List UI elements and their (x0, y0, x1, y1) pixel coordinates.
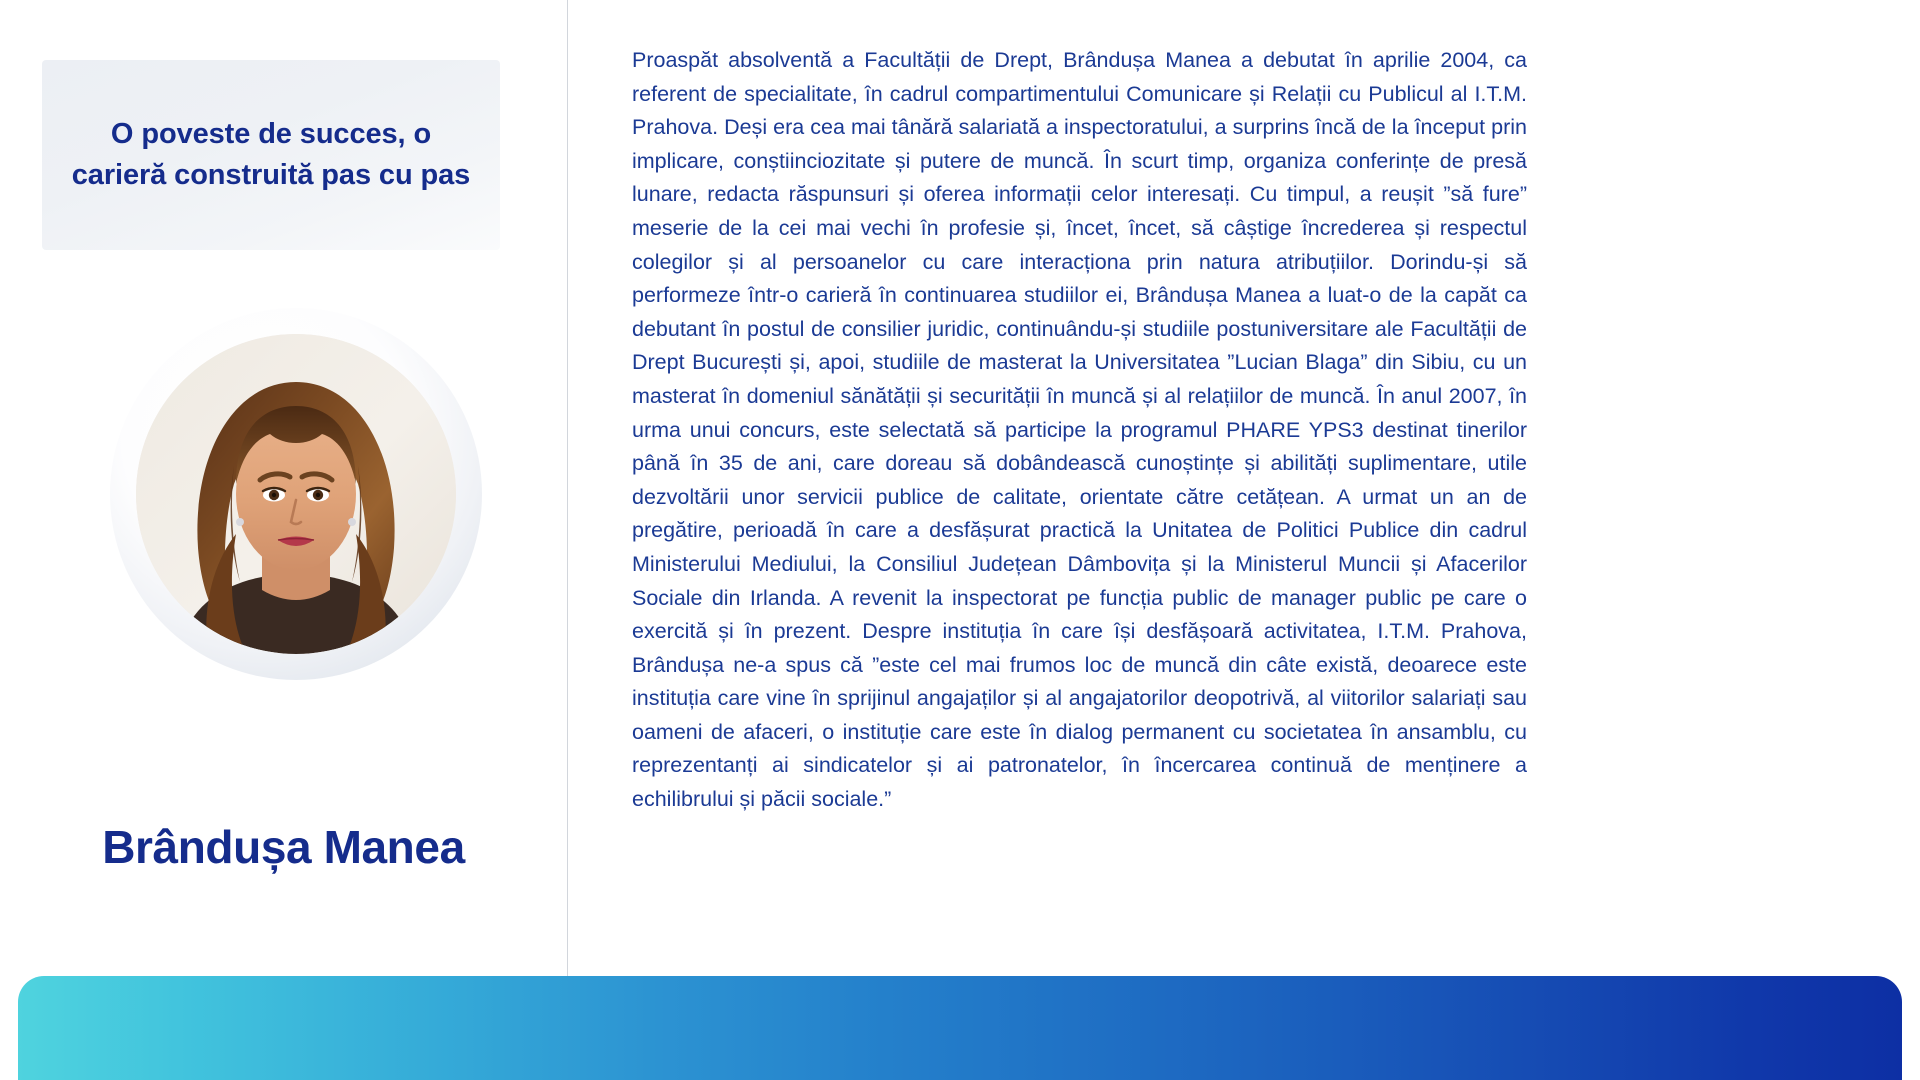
avatar (136, 334, 456, 654)
person-name: Brândușa Manea (0, 820, 567, 874)
right-column: Proaspăt absolventă a Facultății de Drep… (632, 44, 1527, 817)
column-divider (567, 0, 568, 977)
page-title: O poveste de succes, o carieră construit… (42, 114, 500, 196)
left-column: O poveste de succes, o carieră construit… (0, 0, 567, 977)
portrait-illustration (136, 334, 456, 654)
portrait-frame (110, 308, 482, 680)
heading-card: O poveste de succes, o carieră construit… (42, 60, 500, 250)
footer-gradient-bar (18, 976, 1902, 1080)
biography-paragraph: Proaspăt absolventă a Facultății de Drep… (632, 44, 1527, 817)
